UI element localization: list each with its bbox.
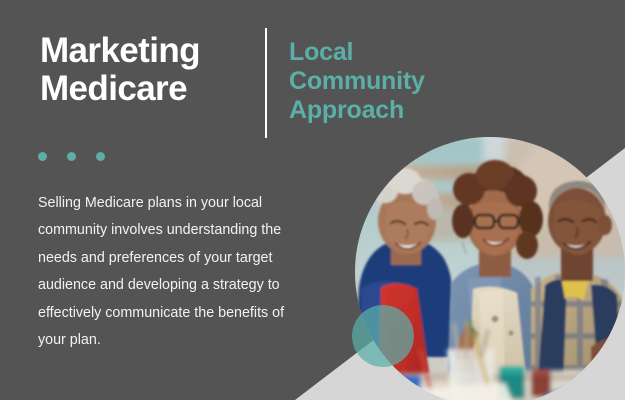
dot-3-icon <box>96 152 105 161</box>
headline-row: Marketing Medicare Local Community Appro… <box>40 32 425 138</box>
dot-2-icon <box>67 152 76 161</box>
vertical-divider <box>265 28 267 138</box>
subtitle: Local Community Approach <box>289 38 425 124</box>
body-paragraph: Selling Medicare plans in your local com… <box>38 190 313 355</box>
dot-1-icon <box>38 152 47 161</box>
teal-accent-circle <box>352 305 414 367</box>
page-title: Marketing Medicare <box>40 32 255 108</box>
dot-decoration-group <box>38 152 105 161</box>
marketing-slide-card: Marketing Medicare Local Community Appro… <box>0 0 625 400</box>
